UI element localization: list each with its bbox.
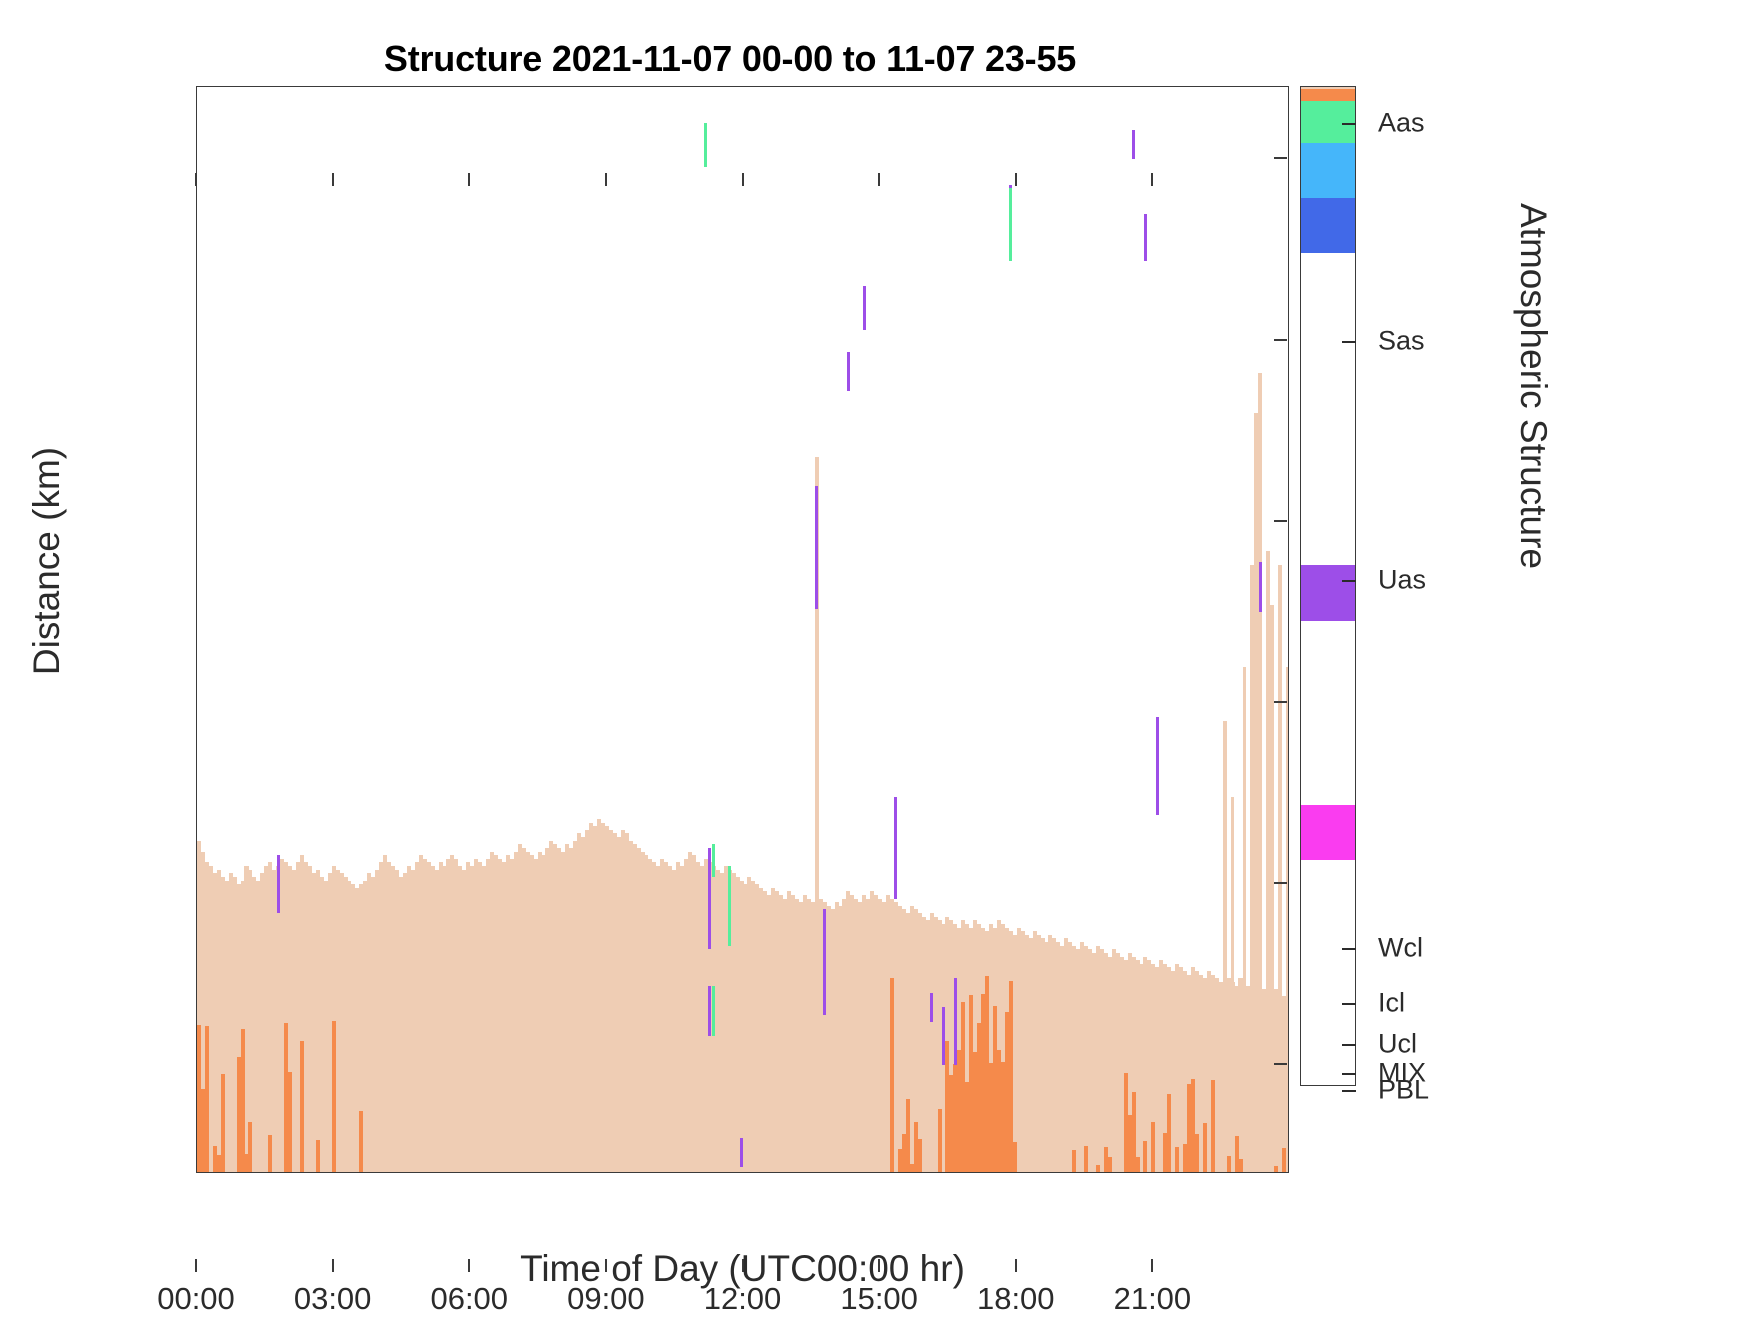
colorbar-band-sas <box>1301 805 1355 860</box>
colorbar-label-sas: Sas <box>1378 326 1425 357</box>
colorbar-label-ucl: Ucl <box>1378 1029 1417 1060</box>
page-title: Structure 2021-11-07 00-00 to 11-07 23-5… <box>200 38 1260 80</box>
y-axis-label: Distance (km) <box>26 346 68 776</box>
x-tick-mark-top <box>1151 173 1153 186</box>
colorbar-band-mix <box>1301 87 1355 101</box>
x-tick-mark-top <box>878 173 880 186</box>
x-tick-mark-top <box>742 173 744 186</box>
colorbar-band-uas <box>1301 565 1355 621</box>
x-tick-mark-top <box>605 173 607 186</box>
colorbar-tick-sas <box>1342 341 1356 343</box>
x-axis-label: Time of Day (UTC00:00 hr) <box>196 1248 1289 1290</box>
colorbar-label-aas: Aas <box>1378 108 1425 139</box>
colorbar-label-wcl: Wcl <box>1378 933 1423 964</box>
colorbar-label-uas: Uas <box>1378 565 1426 596</box>
colorbar-tick-wcl <box>1342 948 1356 950</box>
colorbar-band-pbl <box>1301 87 1355 89</box>
colorbar-label-icl: Icl <box>1378 988 1405 1019</box>
x-tick-mark-top <box>468 173 470 186</box>
colorbar-label-pbl: PBL <box>1378 1075 1429 1106</box>
y-tick-mark-inner <box>1274 701 1287 703</box>
colorbar-band-ucl <box>1301 101 1355 143</box>
y-tick-mark-inner <box>1274 520 1287 522</box>
y-tick-mark-inner <box>1274 1063 1287 1065</box>
colorbar-band-icl <box>1301 143 1355 198</box>
colorbar-band-wcl <box>1301 198 1355 253</box>
y-tick-mark-inner <box>1274 882 1287 884</box>
x-tick-mark-top <box>332 173 334 186</box>
y-tick-mark-inner <box>1274 157 1287 159</box>
colorbar-tick-pbl <box>1342 1090 1356 1092</box>
x-tick-mark-top <box>195 173 197 186</box>
colorbar-tick-uas <box>1342 580 1356 582</box>
colorbar-axis-label: Atmospheric Structure <box>1512 171 1554 601</box>
x-tick-mark-top <box>1015 173 1017 186</box>
y-tick-mark-inner <box>1274 339 1287 341</box>
colorbar-tick-ucl <box>1342 1044 1356 1046</box>
colorbar-tick-mix <box>1342 1073 1356 1075</box>
colorbar-tick-icl <box>1342 1003 1356 1005</box>
colorbar-tick-aas <box>1342 123 1356 125</box>
colorbar <box>1300 86 1356 1086</box>
atmospheric-structure-figure: Structure 2021-11-07 00-00 to 11-07 23-5… <box>0 0 1750 1313</box>
axes-overlay: 0.511.522.5300:0003:0006:0009:0012:0015:… <box>196 86 1289 1173</box>
